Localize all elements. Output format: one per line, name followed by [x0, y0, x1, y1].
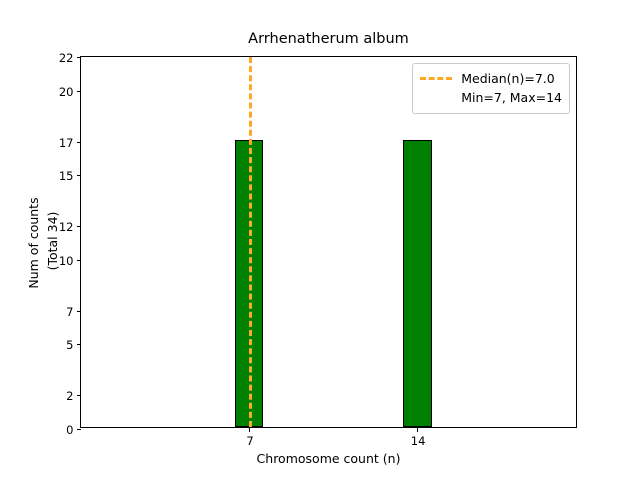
plot-area: 0257101215172022 714 Median(n)=7.0 Min=7…: [80, 56, 577, 428]
y-tick: 5: [77, 344, 82, 345]
blank-swatch-icon: [420, 96, 452, 99]
y-tick: 15: [77, 175, 82, 176]
y-tick-label: 7: [66, 304, 73, 320]
x-tick-label: 14: [398, 433, 438, 449]
x-tick-label: 7: [230, 433, 270, 449]
y-tick: 7: [77, 311, 82, 312]
legend-entry-median: Median(n)=7.0: [420, 69, 562, 88]
legend-entry-minmax: Min=7, Max=14: [420, 88, 562, 107]
y-tick-label: 5: [66, 337, 73, 353]
chart-legend: Median(n)=7.0 Min=7, Max=14: [412, 63, 570, 114]
y-tick: 0: [77, 429, 82, 430]
y-tick: 17: [77, 142, 82, 143]
x-tick: 7: [249, 427, 250, 432]
chart-title: Arrhenatherum album: [80, 30, 577, 48]
y-tick: 10: [77, 260, 82, 261]
y-tick-label: 0: [66, 422, 73, 438]
dashed-line-icon: [420, 77, 452, 80]
legend-label-minmax: Min=7, Max=14: [461, 88, 562, 107]
x-tick: 14: [417, 427, 418, 432]
x-axis-label: Chromosome count (n): [80, 451, 577, 467]
figure-canvas: Arrhenatherum album 0257101215172022 714…: [0, 0, 640, 480]
legend-label-median: Median(n)=7.0: [461, 69, 555, 88]
y-axis-label: Num of counts (Total 34): [24, 57, 62, 429]
y-tick: 2: [77, 395, 82, 396]
y-tick: 20: [77, 91, 82, 92]
bar-14: [403, 140, 432, 427]
y-tick: 12: [77, 226, 82, 227]
y-tick-label: 2: [66, 388, 73, 404]
y-tick: 22: [77, 57, 82, 58]
median-line: [249, 57, 252, 427]
